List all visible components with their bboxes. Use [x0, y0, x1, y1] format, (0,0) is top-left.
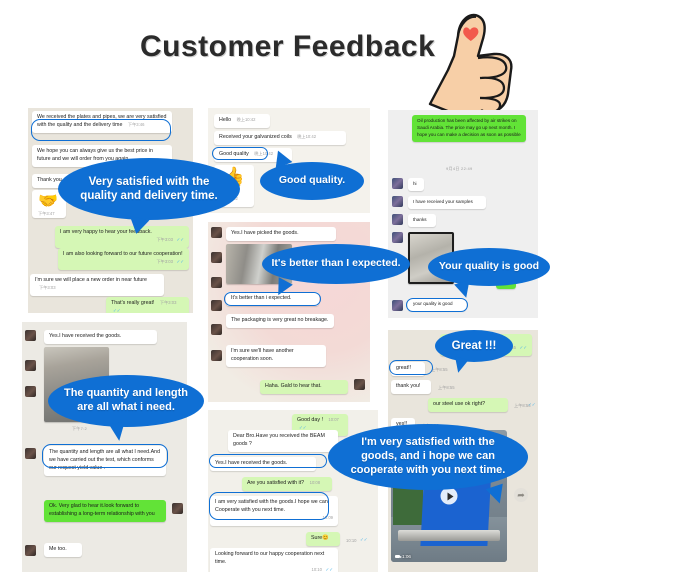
callout-very-satisfied-goods: I'm very satisfied with the goods, and i… [328, 424, 528, 490]
photo-timestamp: 下午7:2 [72, 426, 87, 432]
avatar [25, 545, 36, 556]
read-tick-icon: ✓✓ [176, 259, 184, 264]
callout-good-quality: Good quality. [260, 162, 364, 200]
callout-your-quality-is-good: Your quality is good [428, 248, 550, 286]
avatar [25, 360, 36, 371]
chat-bubble: hi [408, 178, 424, 191]
read-tick-icon: ✓✓ [528, 402, 536, 408]
chat-bubble: our steel use ok right? [428, 398, 508, 412]
avatar [354, 379, 365, 390]
callout-quantity-and-length: The quantity and length are all what i n… [48, 375, 204, 427]
chat-bubble: The packaging is very great no breakage. [226, 314, 334, 328]
avatar [392, 196, 403, 207]
avatar [25, 330, 36, 341]
forward-arrow-icon[interactable]: ➦ [514, 488, 528, 502]
video-duration: 1:06 [395, 554, 411, 559]
chat-bubble: Me too. [44, 543, 82, 557]
avatar [211, 252, 222, 263]
avatar [25, 386, 36, 397]
read-tick-icon: ✓✓ [360, 537, 368, 543]
handshake-emoji: 🤝 [38, 194, 58, 210]
avatar [211, 300, 222, 311]
chat-bubble: great!! [391, 362, 425, 376]
message-timestamp: 10:10 [346, 538, 356, 543]
chat-bubble: Ok. Very glad to hear it.look forward to… [44, 500, 166, 522]
play-icon[interactable] [441, 488, 458, 505]
chat-bubble: Dear Bro.Have you received the BEAM good… [228, 430, 338, 452]
feedback-page: Customer Feedback We received the plates… [0, 0, 680, 574]
callout-great: Great !!! [435, 330, 513, 362]
read-tick-icon: ✓✓ [325, 567, 333, 572]
chat-panel-received-goods: Yes.I have received the goods. 下午7:2 The… [22, 322, 187, 572]
chat-bubble: Looking forward to our happy cooperation… [210, 548, 338, 572]
chat-bubble: Yes.I have received the goods. [44, 330, 157, 344]
avatar [211, 324, 222, 335]
chat-bubble: I am also looking forward to our future … [58, 248, 189, 270]
avatar [392, 214, 403, 225]
video-frame-steel-bar [398, 530, 500, 541]
avatar [25, 448, 36, 459]
page-title: Customer Feedback [140, 30, 435, 64]
avatar [172, 503, 183, 514]
chat-bubble: Hello 晚上10:42 [214, 114, 270, 128]
chat-bubble: I'm sure we will place a new order in ne… [30, 274, 164, 296]
chat-bubble: I am very satisfied with the goods.I hop… [210, 496, 338, 526]
avatar [392, 178, 403, 189]
chat-bubble: Haha. Gald to hear that. [260, 380, 348, 394]
callout-very-satisfied: Very satisfied with the quality and deli… [58, 158, 240, 220]
message-timestamp: 上午8:55 [431, 367, 448, 373]
avatar [211, 277, 222, 288]
avatar [211, 227, 222, 238]
chat-bubble: I'm sure we'll have another cooperation … [226, 345, 326, 367]
chat-bubble: Oil production has been affected by air … [412, 115, 526, 142]
chat-bubble: Yes.I have picked the goods. [226, 227, 336, 241]
chat-bubble: Yes.I have received the goods. [210, 457, 316, 471]
read-tick-icon: ✓✓ [113, 308, 121, 313]
thumbs-up-hand-icon [418, 8, 522, 118]
read-tick-icon: ✓✓ [176, 237, 184, 242]
video-camera-icon [395, 555, 400, 558]
chat-bubble: I have received your samples [408, 196, 486, 209]
message-timestamp: 上午8:55 [438, 385, 455, 391]
chat-bubble: I am very happy to hear your feedback. 下… [55, 226, 189, 248]
chat-bubble: Received your galvanized coils 晚上10:42 [214, 131, 346, 145]
chat-bubble: Are you satisfied with it? 10:08 [242, 477, 332, 491]
date-divider: 9月4日 22:49 [446, 166, 473, 172]
avatar [211, 350, 222, 361]
callout-better-than-expected: It's better than I expected. [262, 244, 410, 284]
read-tick-icon: ✓✓ [519, 345, 527, 350]
avatar [392, 232, 403, 243]
chat-bubble: That's really great! 下午3:03 ✓✓ [106, 297, 189, 313]
chat-bubble: It's better than i expected. [226, 292, 319, 306]
chat-bubble: The quantity and length are all what I n… [44, 446, 166, 476]
chat-bubble: Sure😊 [306, 532, 340, 546]
chat-bubble: thank you! [391, 380, 431, 394]
chat-bubble: thanks [408, 214, 436, 227]
avatar [392, 300, 403, 311]
chat-bubble: your quality is good [408, 298, 466, 311]
chat-bubble: We received the plates and pipes, we are… [32, 111, 172, 133]
